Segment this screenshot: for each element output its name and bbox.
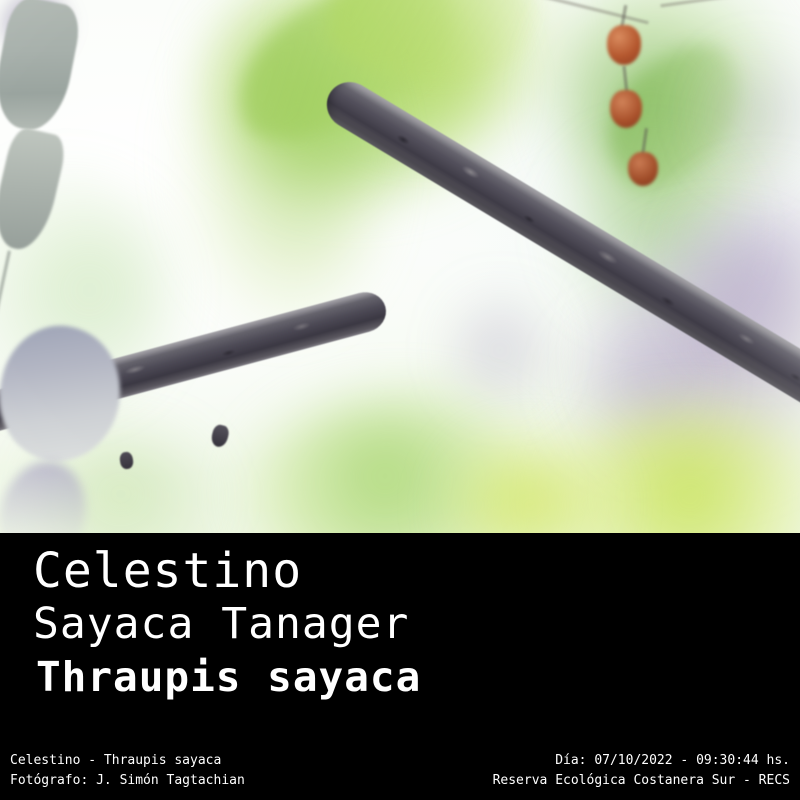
meta-location-line: Reserva Ecológica Costanera Sur - RECS [493,771,790,791]
meta-right-block: Día: 07/10/2022 - 09:30:44 hs. Reserva E… [493,751,790,791]
common-name-spanish: Celestino [33,544,302,598]
meta-left-block: Celestino - Thraupis sayaca Fotógrafo: J… [10,751,245,791]
photo-card: Celestino Sayaca Tanager Thraupis sayaca… [0,0,800,800]
common-name-english: Sayaca Tanager [33,599,409,649]
caption-plate: Celestino Sayaca Tanager Thraupis sayaca… [0,533,800,800]
meta-photographer-line: Fotógrafo: J. Simón Tagtachian [10,771,245,791]
scientific-name: Thraupis sayaca [36,653,421,701]
bird-flank-highlight [0,452,97,533]
meta-datetime-line: Día: 07/10/2022 - 09:30:44 hs. [493,751,790,771]
bird-tail-feather-outer [0,0,84,136]
bird-sayaca-tanager [0,0,800,533]
bird-photograph [0,0,800,533]
meta-species-line: Celestino - Thraupis sayaca [10,751,245,771]
bird-tail-feather-inner [0,125,69,255]
bird-tail-split [0,251,11,326]
bird-flank [0,315,133,472]
